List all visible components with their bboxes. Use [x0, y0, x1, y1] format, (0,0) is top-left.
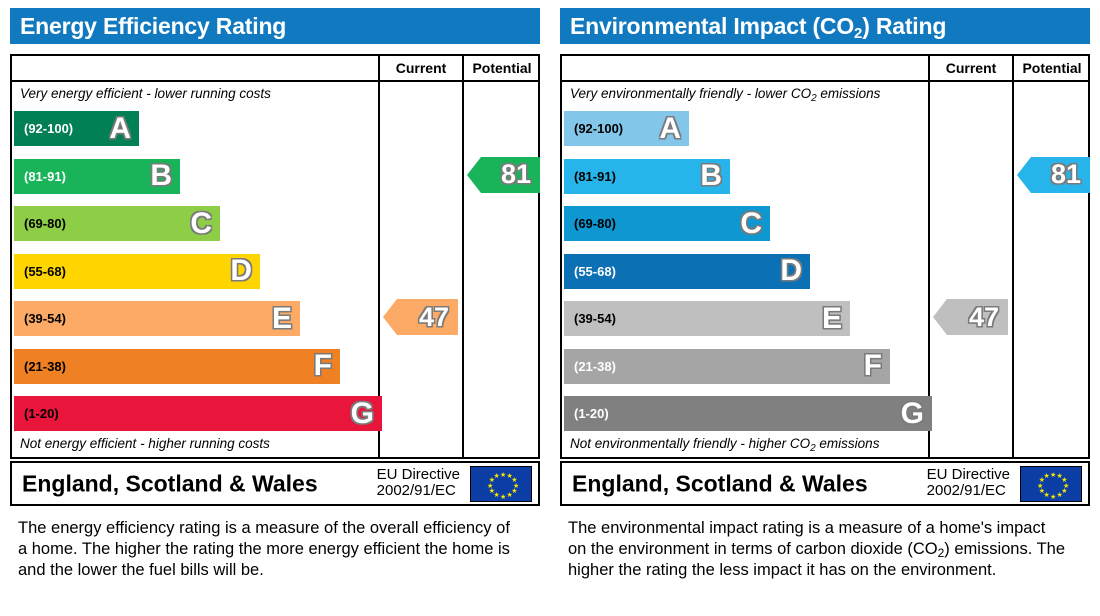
rating-bars-env: (92-100)A(81-91)B(69-80)C(55-68)D(39-54)… [562, 106, 928, 436]
rating-band-bar-d-energy: (55-68)D [14, 254, 260, 289]
rating-band-row-d-energy: (55-68)D [12, 251, 378, 291]
rating-table-env: Current Potential Very environmentally f… [560, 54, 1090, 459]
band-range-c-env: (69-80) [564, 216, 616, 231]
band-range-a-env: (92-100) [564, 121, 623, 136]
table-header-row-energy: Current Potential [12, 56, 538, 82]
rating-band-bar-g-env: (1-20)G [564, 396, 932, 431]
rating-table-energy: Current Potential Very energy efficient … [10, 54, 540, 459]
rating-band-row-b-env: (81-91)B [562, 156, 928, 196]
band-letter-a-env: A [659, 114, 681, 144]
rating-band-row-c-env: (69-80)C [562, 203, 928, 243]
band-letter-d-energy: D [230, 256, 252, 286]
rating-band-row-d-env: (55-68)D [562, 251, 928, 291]
band-letter-f-env: F [864, 351, 882, 381]
current-rating-indicator-env: 47 [933, 299, 1008, 335]
title-tail-env: ) Rating [862, 13, 946, 39]
rating-band-bar-g-energy: (1-20)G [14, 396, 382, 431]
band-range-b-energy: (81-91) [14, 169, 66, 184]
caption-bottom-sub-env: 2 [810, 443, 816, 454]
eu-flag-icon-env: ★★★★★★★★★★★★ [1020, 466, 1082, 502]
footer-directive-energy: EU Directive 2002/91/EC [377, 467, 460, 501]
table-header-row-env: Current Potential [562, 56, 1088, 82]
page-title-env: Environmental Impact (CO2) Rating [560, 13, 946, 40]
rating-band-bar-c-energy: (69-80)C [14, 206, 220, 241]
band-letter-b-energy: B [150, 161, 172, 191]
band-range-g-env: (1-20) [564, 406, 609, 421]
rating-band-bar-a-env: (92-100)A [564, 111, 689, 146]
potential-rating-indicator-energy: 81 [467, 157, 540, 193]
rating-band-row-g-env: (1-20)G [562, 393, 928, 433]
rating-band-bar-f-energy: (21-38)F [14, 349, 340, 384]
column-header-current-energy: Current [380, 56, 462, 80]
epc-rating-page: Energy Efficiency Rating Current Potenti… [0, 0, 1100, 616]
rating-band-bar-d-env: (55-68)D [564, 254, 810, 289]
band-letter-f-energy: F [314, 351, 332, 381]
directive-line-2-env: 2002/91/EC [927, 484, 1010, 501]
column-header-potential-env: Potential [1014, 56, 1090, 80]
eu-star-icon: ★ [500, 494, 506, 501]
eu-star-icon: ★ [1044, 473, 1050, 480]
description-env: The environmental impact rating is a mea… [568, 518, 1068, 581]
caption-top-env: Very environmentally friendly - lower CO… [570, 86, 922, 101]
column-divider-2-env [1012, 56, 1014, 459]
band-letter-b-env: B [700, 161, 722, 191]
page-title-energy: Energy Efficiency Rating [10, 13, 286, 40]
current-rating-indicator-value-energy: 47 [419, 304, 458, 331]
rating-band-bar-f-env: (21-38)F [564, 349, 890, 384]
potential-rating-indicator-value-energy: 81 [501, 161, 540, 188]
band-range-c-energy: (69-80) [14, 216, 66, 231]
rating-band-row-f-energy: (21-38)F [12, 346, 378, 386]
title-subscript-env: 2 [854, 25, 862, 42]
directive-line-1-energy: EU Directive [377, 467, 460, 484]
column-header-potential-energy: Potential [464, 56, 540, 80]
rating-bars-energy: (92-100)A(81-91)B(69-80)C(55-68)D(39-54)… [12, 106, 378, 436]
band-letter-e-env: E [822, 304, 842, 334]
directive-line-2-energy: 2002/91/EC [377, 484, 460, 501]
rating-band-row-b-energy: (81-91)B [12, 156, 378, 196]
band-range-e-env: (39-54) [564, 311, 616, 326]
rating-band-bar-e-env: (39-54)E [564, 301, 850, 336]
band-range-e-energy: (39-54) [14, 311, 66, 326]
current-rating-indicator-energy: 47 [383, 299, 458, 335]
current-rating-indicator-value-env: 47 [969, 304, 1008, 331]
caption-bottom-energy: Not energy efficient - higher running co… [20, 436, 372, 451]
description-energy: The energy efficiency rating is a measur… [18, 518, 518, 581]
footer-country-env: England, Scotland & Wales [572, 470, 868, 497]
environmental-impact-chart: Environmental Impact (CO2) Rating Curren… [550, 0, 1100, 616]
potential-rating-indicator-env: 81 [1017, 157, 1090, 193]
caption-bottom-tail-env: emissions [816, 436, 880, 451]
rating-band-row-e-energy: (39-54)E [12, 298, 378, 338]
rating-band-row-f-env: (21-38)F [562, 346, 928, 386]
band-letter-g-energy: G [351, 399, 374, 429]
column-divider-2-energy [462, 56, 464, 459]
rating-band-bar-a-energy: (92-100)A [14, 111, 139, 146]
energy-efficiency-chart: Energy Efficiency Rating Current Potenti… [0, 0, 550, 616]
footer-country-energy: England, Scotland & Wales [22, 470, 318, 497]
band-letter-c-env: C [740, 209, 762, 239]
caption-top-energy: Very energy efficient - lower running co… [20, 86, 372, 101]
band-range-b-env: (81-91) [564, 169, 616, 184]
eu-star-icon: ★ [1050, 472, 1056, 479]
eu-star-icon: ★ [1050, 494, 1056, 501]
footer-energy: England, Scotland & Wales EU Directive 2… [10, 461, 540, 506]
rating-band-row-e-env: (39-54)E [562, 298, 928, 338]
band-letter-a-energy: A [109, 114, 131, 144]
caption-top-tail-env: emissions [817, 86, 881, 101]
eu-flag-icon-energy: ★★★★★★★★★★★★ [470, 466, 532, 502]
directive-line-1-env: EU Directive [927, 467, 1010, 484]
rating-band-row-g-energy: (1-20)G [12, 393, 378, 433]
column-header-current-env: Current [930, 56, 1012, 80]
footer-directive-env: EU Directive 2002/91/EC [927, 467, 1010, 501]
eu-star-icon: ★ [494, 473, 500, 480]
potential-rating-indicator-value-env: 81 [1051, 161, 1090, 188]
title-main-env: Environmental Impact (CO [570, 13, 854, 39]
caption-bottom-env: Not environmentally friendly - higher CO… [570, 436, 922, 451]
eu-star-icon: ★ [500, 472, 506, 479]
eu-star-icon: ★ [507, 492, 513, 499]
eu-star-icon: ★ [1057, 492, 1063, 499]
rating-band-row-a-env: (92-100)A [562, 108, 928, 148]
band-range-d-energy: (55-68) [14, 264, 66, 279]
band-range-f-env: (21-38) [564, 359, 616, 374]
caption-top-main-env: Very environmentally friendly - lower CO [570, 86, 811, 101]
rating-band-bar-b-energy: (81-91)B [14, 159, 180, 194]
caption-bottom-main-env: Not environmentally friendly - higher CO [570, 436, 810, 451]
band-letter-c-energy: C [190, 209, 212, 239]
chart-title-band-env: Environmental Impact (CO2) Rating [560, 8, 1090, 44]
band-letter-e-energy: E [272, 304, 292, 334]
band-letter-g-env: G [901, 399, 924, 429]
chart-title-band-energy: Energy Efficiency Rating [10, 8, 540, 44]
rating-band-bar-e-energy: (39-54)E [14, 301, 300, 336]
footer-env: England, Scotland & Wales EU Directive 2… [560, 461, 1090, 506]
caption-top-sub-env: 2 [811, 93, 817, 104]
rating-band-bar-c-env: (69-80)C [564, 206, 770, 241]
band-range-d-env: (55-68) [564, 264, 616, 279]
band-range-f-energy: (21-38) [14, 359, 66, 374]
rating-band-bar-b-env: (81-91)B [564, 159, 730, 194]
description-env-sub: 2 [938, 546, 945, 560]
band-range-a-energy: (92-100) [14, 121, 73, 136]
band-range-g-energy: (1-20) [14, 406, 59, 421]
rating-band-row-a-energy: (92-100)A [12, 108, 378, 148]
band-letter-d-env: D [780, 256, 802, 286]
rating-band-row-c-energy: (69-80)C [12, 203, 378, 243]
